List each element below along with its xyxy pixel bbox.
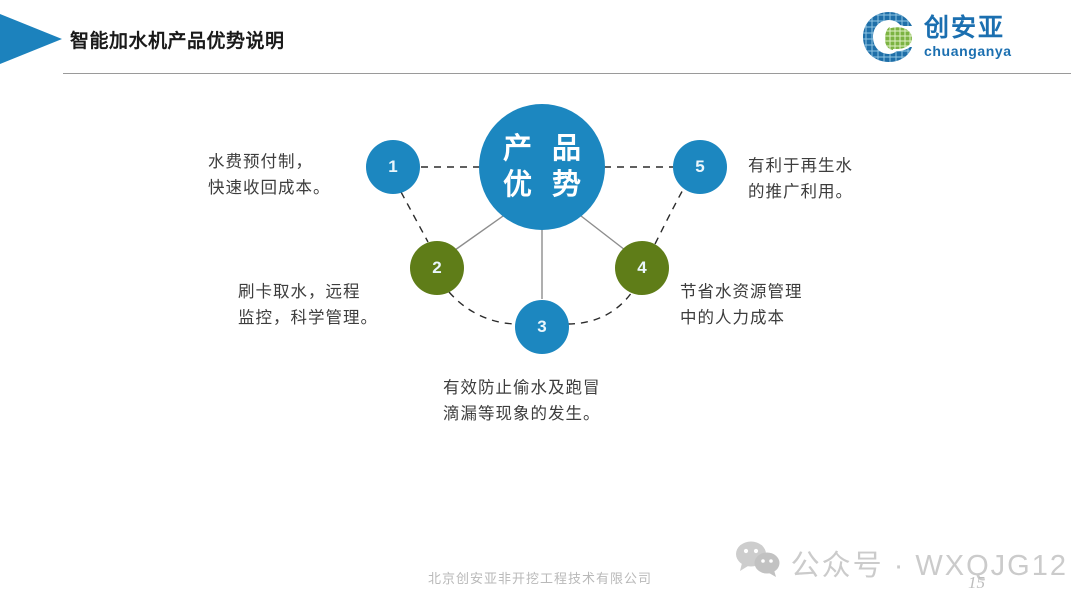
wechat-watermark: 公众号 · WXQJG12 xyxy=(735,540,1068,586)
caption-2: 刷卡取水，远程 监控，科学管理。 xyxy=(238,280,378,331)
wechat-handle: 公众号 · WXQJG12 xyxy=(791,542,1068,584)
caption-3: 有效防止偷水及跑冒 滴漏等现象的发生。 xyxy=(443,376,601,427)
logo-chinese-name: 创安亚 xyxy=(924,16,1012,41)
hub-label: 产 品 优 势 xyxy=(497,131,587,204)
header-divider xyxy=(63,73,1071,74)
caption-5: 有利于再生水 的推广利用。 xyxy=(748,154,853,205)
logo-pinyin: chuanganya xyxy=(924,44,1012,58)
chuanganya-logo-icon xyxy=(860,9,918,65)
page-number: 15 xyxy=(968,573,985,593)
node-4[interactable]: 4 xyxy=(615,241,669,295)
hub-node[interactable]: 产 品 优 势 xyxy=(479,104,605,230)
slide-canvas: 智能加水机产品优势说明 xyxy=(0,0,1080,607)
triangle-right-icon xyxy=(0,14,62,64)
node-2[interactable]: 2 xyxy=(410,241,464,295)
wechat-icon xyxy=(735,540,781,586)
node-5[interactable]: 5 xyxy=(673,140,727,194)
product-advantages-diagram: 产 品 优 势 1 2 3 4 5 水费预付制， 快速收回成本。 刷卡取水，远程… xyxy=(0,78,1080,458)
caption-4: 节省水资源管理 中的人力成本 xyxy=(680,280,803,331)
node-3[interactable]: 3 xyxy=(515,300,569,354)
page-title: 智能加水机产品优势说明 xyxy=(70,26,285,53)
brand-logo: 创安亚 chuanganya xyxy=(860,6,1070,68)
node-1[interactable]: 1 xyxy=(366,140,420,194)
caption-1: 水费预付制， 快速收回成本。 xyxy=(208,150,331,201)
